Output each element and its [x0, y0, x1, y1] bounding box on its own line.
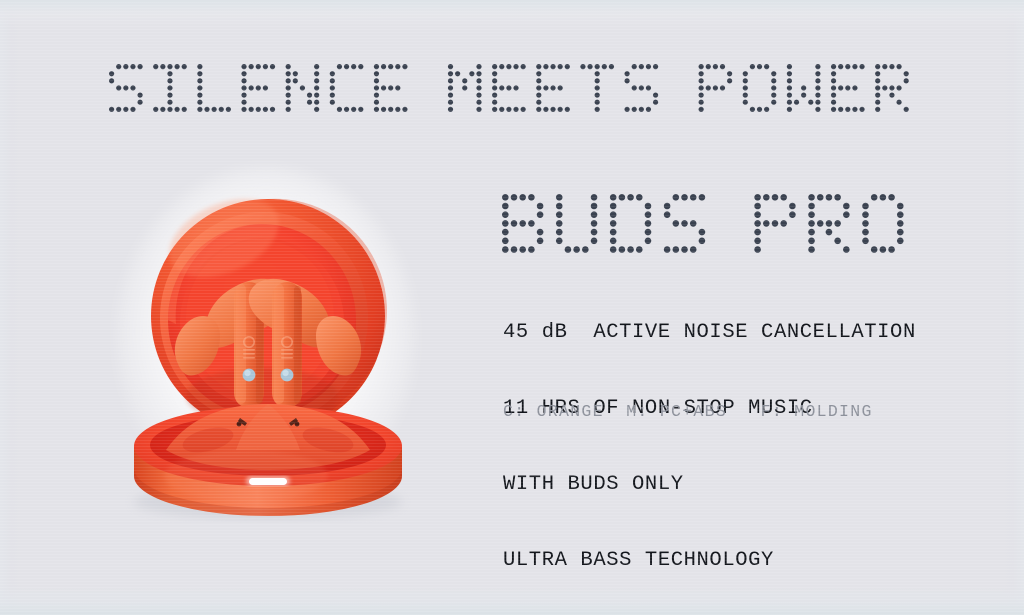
case-base: [134, 404, 402, 516]
product-title-buds-pro: [502, 194, 913, 267]
poster-background: 45 dB ACTIVE NOISE CANCELLATION 11 HRS O…: [0, 0, 1024, 615]
earbuds-case-illustration: [96, 146, 436, 536]
headline-silence-meets-power: [0, 64, 1024, 120]
spec-line-anc: 45 dB ACTIVE NOISE CANCELLATION: [503, 320, 916, 345]
led-indicator: [246, 476, 290, 486]
product-image-earbuds-case: [96, 146, 436, 536]
material-spec-line: C: ORANGE M: PC+ABS F: MOLDING: [503, 402, 873, 421]
spec-line-bass: ULTRA BASS TECHNOLOGY: [503, 548, 916, 573]
spec-line-buds-only: WITH BUDS ONLY: [503, 472, 916, 497]
spec-list: 45 dB ACTIVE NOISE CANCELLATION 11 HRS O…: [503, 269, 916, 615]
